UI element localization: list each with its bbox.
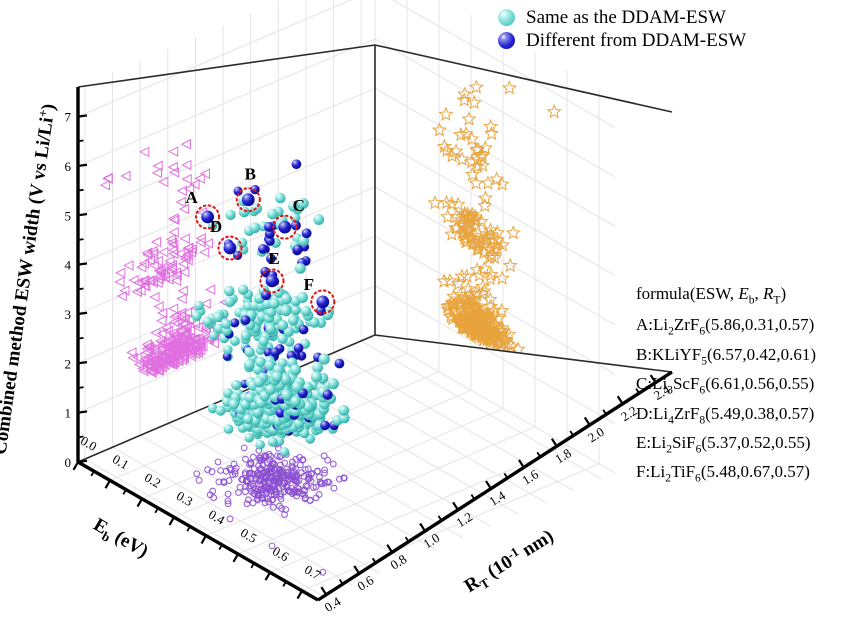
data-point-different (258, 244, 268, 254)
highlighted-data-point-e (266, 275, 279, 288)
legend-label-same: Same as the DDAM-ESW (526, 7, 726, 29)
data-point-same (231, 380, 241, 390)
data-point-same (290, 364, 301, 375)
figure-3d-scatter: ABCDEF 01234567 0.00.10.20.30.40.50.60.7… (0, 0, 864, 643)
legend: Same as the DDAM-ESW Different from DDAM… (498, 6, 838, 52)
formula-entry-d: D:Li4ZrF8(5.49,0.38,0.57) (636, 404, 864, 426)
data-point-same (328, 378, 339, 389)
y-tick-label: 1 (65, 406, 72, 421)
data-point-same (216, 406, 226, 416)
data-point-different (334, 359, 344, 369)
y-tick-label: 2 (65, 356, 72, 371)
data-point-same (278, 320, 289, 331)
data-point-same (311, 371, 322, 382)
data-point-same (243, 414, 253, 424)
y-axis-tick-labels: 01234567 (65, 110, 72, 470)
annotation-letter-b: B (245, 165, 256, 184)
x-axis-title: Eb (eV) (88, 514, 152, 565)
data-point-same (271, 371, 282, 382)
data-point-same (288, 315, 299, 326)
data-point-same (265, 324, 275, 334)
highlighted-data-point-c (278, 221, 291, 234)
data-point-different (320, 421, 330, 431)
data-point-same (280, 447, 290, 457)
formula-list: A:Li2ZrF6(5.86,0.31,0.57)B:KLiYF5(6.57,0… (636, 315, 864, 484)
legend-label-different: Different from DDAM-ESW (526, 30, 746, 52)
legend-marker-sphere-cyan-icon (498, 9, 515, 26)
data-point-same (241, 331, 251, 341)
data-point-different (302, 228, 312, 238)
legend-item-different: Different from DDAM-ESW (498, 29, 838, 52)
y-tick-label: 7 (65, 110, 72, 125)
data-point-same (221, 319, 231, 329)
data-point-different (241, 315, 251, 325)
data-point-same (281, 306, 292, 317)
data-point-same (255, 440, 265, 450)
y-tick-label: 5 (65, 208, 72, 223)
highlighted-data-point-f (316, 296, 329, 309)
formula-entry-b: B:KLiYF5(6.57,0.42,0.61) (636, 345, 864, 367)
formula-panel: formula(ESW, Eb, RT) A:Li2ZrF6(5.86,0.31… (636, 284, 864, 492)
data-point-same (292, 381, 303, 392)
data-point-same (268, 437, 278, 447)
z-axis-title: RT (10-1 nm) (460, 524, 559, 599)
data-point-same (253, 377, 264, 388)
data-point-different (293, 244, 303, 254)
data-point-same (224, 424, 234, 434)
formula-entry-c: C:Li3ScF6(6.61,0.56,0.55) (636, 374, 864, 396)
y-tick-label: 4 (65, 258, 72, 273)
data-point-same (224, 286, 235, 297)
data-point-different (292, 159, 302, 169)
data-point-same (244, 347, 255, 358)
data-point-same (238, 284, 248, 294)
annotation-letter-c: C (293, 196, 305, 215)
svg-text:RT (10-1 nm): RT (10-1 nm) (460, 524, 559, 599)
data-point-different (323, 390, 333, 400)
y-tick-label: 0 (65, 455, 72, 470)
data-point-same (275, 193, 286, 204)
annotation-letter-a: A (185, 188, 198, 207)
data-point-same (295, 263, 306, 274)
data-point-same (192, 311, 202, 321)
svg-text:Eb (eV): Eb (eV) (88, 514, 152, 565)
legend-item-same: Same as the DDAM-ESW (498, 6, 838, 29)
data-point-different (294, 343, 304, 353)
data-point-same (213, 312, 223, 322)
data-point-different (270, 347, 280, 357)
data-point-same (244, 359, 255, 370)
data-point-same (301, 306, 312, 317)
annotation-letter-d: D (210, 217, 222, 236)
data-point-same (281, 294, 292, 305)
data-point-same (249, 222, 260, 233)
data-point-same (203, 317, 213, 327)
y-tick-label: 6 (65, 159, 72, 174)
formula-panel-header: formula(ESW, Eb, RT) (636, 284, 864, 306)
data-point-same (338, 405, 349, 416)
data-point-same (223, 345, 232, 354)
data-point-same (319, 354, 330, 365)
data-point-different (299, 325, 309, 335)
data-point-same (225, 210, 235, 220)
svg-text:Combined method ESW width (V v: Combined method ESW width (V vs Li/Li+) (0, 102, 60, 456)
annotation-letter-e: E (268, 249, 279, 268)
annotation-letter-f: F (304, 275, 314, 294)
data-point-same (265, 384, 276, 395)
data-point-same (281, 390, 292, 401)
data-point-same (269, 298, 280, 309)
data-point-different (230, 318, 239, 327)
highlighted-data-point-b (242, 193, 255, 206)
y-axis-title: Combined method ESW width (V vs Li/Li+) (0, 102, 60, 456)
data-point-same (224, 297, 234, 307)
data-point-same (259, 336, 269, 346)
legend-marker-sphere-blue-icon (498, 32, 515, 49)
data-point-same (244, 433, 254, 443)
data-point-same (255, 357, 266, 368)
formula-entry-a: A:Li2ZrF6(5.86,0.31,0.57) (636, 315, 864, 337)
data-point-same (229, 399, 239, 409)
data-point-same (290, 396, 301, 407)
data-point-same (267, 209, 278, 220)
formula-entry-f: F:Li2TiF6(5.48,0.67,0.57) (636, 462, 864, 484)
y-tick-label: 3 (65, 307, 72, 322)
data-point-same (313, 214, 324, 225)
highlighted-data-point-d (224, 242, 237, 255)
data-point-same (194, 301, 204, 311)
formula-entry-e: E:Li2SiF6(5.37,0.52,0.55) (636, 433, 864, 455)
